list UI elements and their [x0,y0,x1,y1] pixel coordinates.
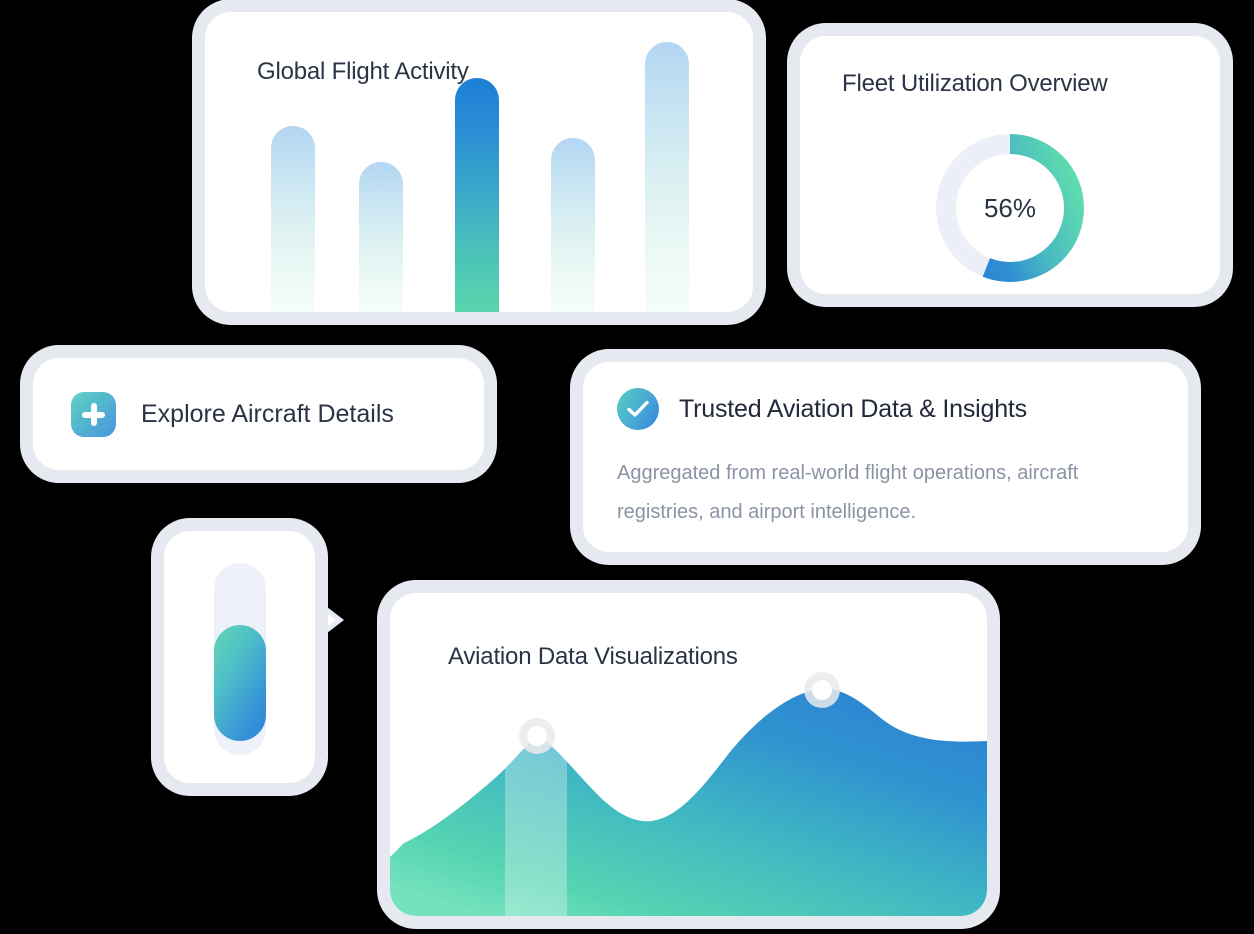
slider-card-inner [164,531,315,783]
bar-chart[interactable] [205,12,753,312]
donut-card-title: Fleet Utilization Overview [842,70,1108,98]
explore-row[interactable]: Explore Aircraft Details [71,358,394,470]
bar-2[interactable] [359,162,403,312]
area-card-title: Aviation Data Visualizations [448,643,738,671]
fleet-utilization-card[interactable]: Fleet Utilization Overview [800,36,1220,294]
vertical-slider-card[interactable] [164,531,315,783]
area-chart-plot [390,593,987,916]
bar-1[interactable] [271,126,315,312]
global-flight-activity-card[interactable]: Global Flight Activity [205,12,753,312]
trusted-aviation-data-card[interactable]: Trusted Aviation Data & Insights Aggrega… [583,362,1188,552]
plus-icon-bar-vertical [91,403,97,426]
trusted-card-header: Trusted Aviation Data & Insights [617,388,1027,430]
donut-card-inner: Fleet Utilization Overview [800,36,1220,294]
area-marker-2[interactable] [804,672,840,708]
check-circle-icon [617,388,659,430]
donut-chart[interactable]: 56% [930,128,1090,288]
explore-aircraft-details-card[interactable]: Explore Aircraft Details [33,358,484,470]
plus-icon [71,392,116,437]
area-card-inner: Aviation Data Visualizations [390,593,987,916]
bar-3-highlighted[interactable] [455,78,499,312]
area-marker-1[interactable] [519,718,555,754]
slider-thumb[interactable] [214,625,266,741]
area-highlight-band [505,593,567,916]
bar-4[interactable] [551,138,595,312]
explore-aircraft-details-label: Explore Aircraft Details [141,400,394,429]
trusted-card-title: Trusted Aviation Data & Insights [679,395,1027,424]
slider-track[interactable] [214,563,266,755]
slider-card-pointer [310,578,358,662]
area-series-path [390,689,987,916]
bar-card-inner: Global Flight Activity [205,12,753,312]
explore-card-inner: Explore Aircraft Details [33,358,484,470]
bar-5[interactable] [645,42,689,312]
donut-center-value: 56% [930,128,1090,288]
trusted-card-description: Aggregated from real-world flight operat… [617,454,1162,532]
trusted-card-inner: Trusted Aviation Data & Insights Aggrega… [583,362,1188,552]
area-chart[interactable] [390,593,987,916]
aviation-data-visualizations-card[interactable]: Aviation Data Visualizations [390,593,987,916]
illustration-stage: Global Flight Activity Fleet Utilization… [0,0,1254,934]
